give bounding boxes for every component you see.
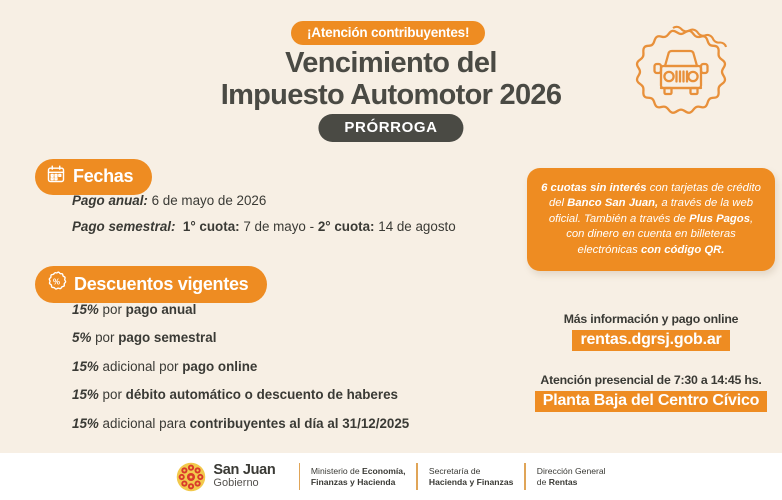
office-location: Planta Baja del Centro Cívico — [535, 391, 767, 412]
discount-mid: por — [103, 302, 122, 317]
prorroga-badge: PRÓRROGA — [318, 114, 463, 142]
brand-name: San Juan — [213, 463, 275, 479]
discount-subject: pago semestral — [118, 330, 216, 345]
percent-badge-icon: % — [46, 271, 67, 297]
discount-percent: 5% — [72, 330, 91, 345]
footer-dept-secretaria: Secretaría de Hacienda y Finanzas — [429, 466, 514, 487]
discount-subject: débito automático o descuento de haberes — [126, 387, 398, 402]
info-bold-7: con código QR. — [641, 244, 724, 256]
discount-mid: por — [103, 387, 122, 402]
discounts-list: 15% por pago anual 5% por pago semestral… — [72, 303, 532, 445]
info-bold-5: Plus Pagos — [689, 213, 750, 225]
discount-row: 15% adicional por pago online — [72, 360, 532, 373]
installments-info-box: 6 cuotas sin interés con tarjetas de cré… — [527, 168, 775, 271]
website-link[interactable]: rentas.dgrsj.gob.ar — [572, 330, 729, 351]
section-pill-descuentos: % Descuentos vigentes — [35, 266, 267, 303]
footer-dept-rentas: Dirección General de Rentas — [537, 466, 606, 487]
brand-sub: Gobierno — [213, 478, 275, 490]
footer-bar: San Juan Gobierno Ministerio de Economía… — [0, 453, 782, 500]
car-front-icon — [625, 16, 737, 128]
installments-info-text: 6 cuotas sin interés con tarjetas de cré… — [541, 181, 761, 258]
discount-mid: adicional para — [103, 416, 186, 431]
info-bold-1: 6 cuotas sin interés — [541, 182, 646, 194]
discount-percent: 15% — [72, 416, 99, 431]
dept-line-2: Hacienda y Finanzas — [429, 477, 514, 487]
date-cuota2-label: 2° cuota: — [318, 219, 375, 234]
discount-mid: por — [95, 330, 114, 345]
san-juan-sun-logo — [176, 462, 206, 492]
calendar-icon — [46, 164, 66, 189]
section-pill-fechas-label: Fechas — [73, 166, 133, 187]
dept-line-1: Dirección General — [537, 466, 606, 476]
brand-block: San Juan Gobierno — [213, 463, 275, 491]
discount-row: 5% por pago semestral — [72, 331, 532, 344]
svg-text:%: % — [53, 277, 60, 286]
discount-percent: 15% — [72, 359, 99, 374]
presencial-header: Atención presencial de 7:30 a 14:45 hs. — [527, 373, 775, 387]
discount-row: 15% por pago anual — [72, 303, 532, 316]
dates-list: Pago anual: 6 de mayo de 2026 Pago semes… — [72, 194, 512, 247]
date-anual-label: Pago anual: — [72, 193, 148, 208]
contact-block: Más información y pago online rentas.dgr… — [527, 312, 775, 412]
footer-dept-ministerio: Ministerio de Economía, Finanzas y Hacie… — [311, 466, 406, 487]
section-pill-fechas: Fechas — [35, 159, 152, 195]
date-anual-value: 6 de mayo de 2026 — [152, 193, 267, 208]
date-separator: - — [310, 219, 314, 234]
dept-line-1: Ministerio de Economía, — [311, 466, 406, 476]
date-row-anual: Pago anual: 6 de mayo de 2026 — [72, 194, 512, 207]
attention-pill: ¡Atención contribuyentes! — [291, 21, 485, 45]
footer-divider — [416, 463, 417, 490]
discount-percent: 15% — [72, 387, 99, 402]
discount-subject: contribuyentes al día al 31/12/2025 — [190, 416, 410, 431]
discount-row: 15% adicional para contribuyentes al día… — [72, 417, 532, 430]
date-cuota2-value: 14 de agosto — [378, 219, 455, 234]
date-cuota1-label: 1° cuota: — [183, 219, 240, 234]
date-row-semestral: Pago semestral: 1° cuota: 7 de mayo - 2°… — [72, 220, 512, 233]
dept-line-1: Secretaría de — [429, 466, 514, 476]
discount-percent: 15% — [72, 302, 99, 317]
footer-divider — [524, 463, 525, 490]
date-cuota1-value: 7 de mayo — [243, 219, 306, 234]
footer-divider — [299, 463, 300, 490]
poster-canvas: ¡Atención contribuyentes! Vencimiento de… — [0, 0, 782, 500]
date-semestral-label: Pago semestral: — [72, 219, 175, 234]
dept-line-2: de Rentas — [537, 477, 606, 487]
online-info-header: Más información y pago online — [527, 312, 775, 326]
info-bold-3: Banco San Juan, — [567, 197, 658, 209]
discount-subject: pago anual — [126, 302, 197, 317]
discount-mid: adicional por — [103, 359, 179, 374]
discount-row: 15% por débito automático o descuento de… — [72, 388, 532, 401]
dept-line-2: Finanzas y Hacienda — [311, 477, 406, 487]
section-pill-descuentos-label: Descuentos vigentes — [74, 274, 248, 295]
discount-subject: pago online — [182, 359, 257, 374]
